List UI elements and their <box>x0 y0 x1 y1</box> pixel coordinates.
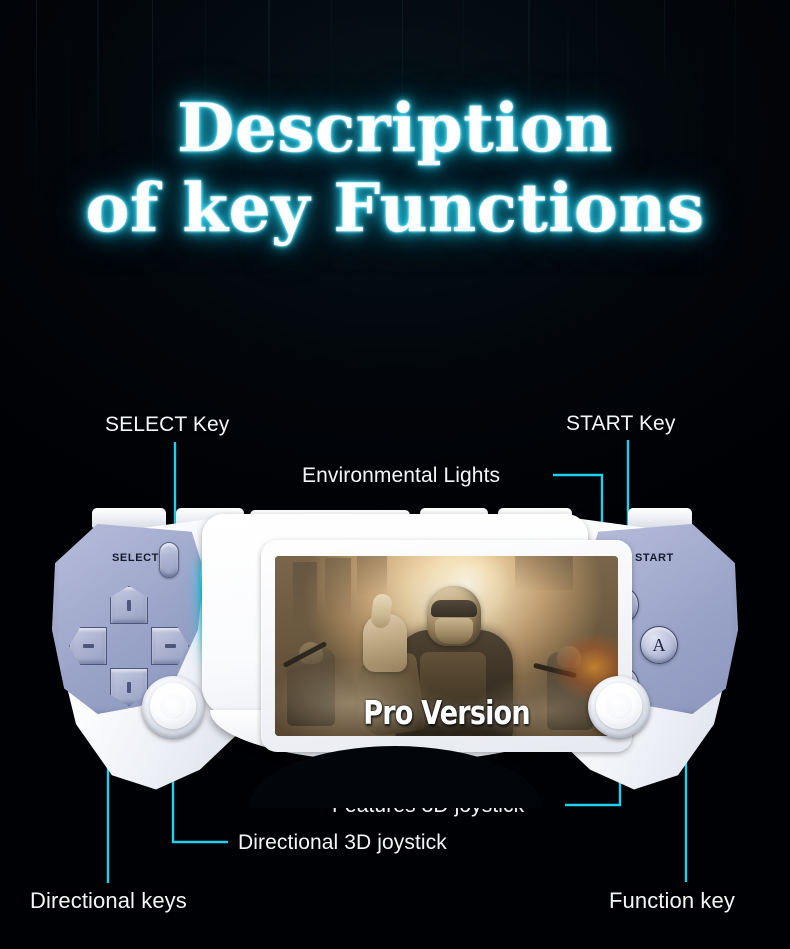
callout-label-directional-keys: Directional keys <box>30 888 187 914</box>
infographic-canvas: Description of key Functions SELECT Key … <box>0 0 790 949</box>
screen-bezel: Pro Version <box>261 540 632 752</box>
right-stick-nub <box>606 693 632 719</box>
screen-overlay-text: Pro Version <box>306 696 587 730</box>
start-button-label: START <box>635 552 674 564</box>
handheld-game-console: SELECT START X Y <box>0 500 790 820</box>
callout-label-start-key: START Key <box>566 411 675 437</box>
callout-label-environmental-lights: Environmental Lights <box>302 463 500 489</box>
right-analog-stick[interactable] <box>588 676 650 738</box>
callout-label-select-key: SELECT Key <box>105 412 229 438</box>
page-title: Description of key Functions <box>0 88 790 248</box>
select-button-label: SELECT <box>112 552 159 564</box>
button-a[interactable]: A <box>640 626 678 664</box>
left-stick-nub <box>160 693 186 719</box>
console-screen[interactable]: Pro Version <box>275 556 618 736</box>
left-analog-stick[interactable] <box>142 676 204 738</box>
callout-label-function-key: Function key <box>609 888 735 914</box>
select-button[interactable] <box>159 542 179 578</box>
callout-label-directional-3d-joystick: Directional 3D joystick <box>238 830 447 856</box>
console-bottom-notch <box>248 746 542 808</box>
console-body: SELECT START X Y <box>52 514 738 798</box>
